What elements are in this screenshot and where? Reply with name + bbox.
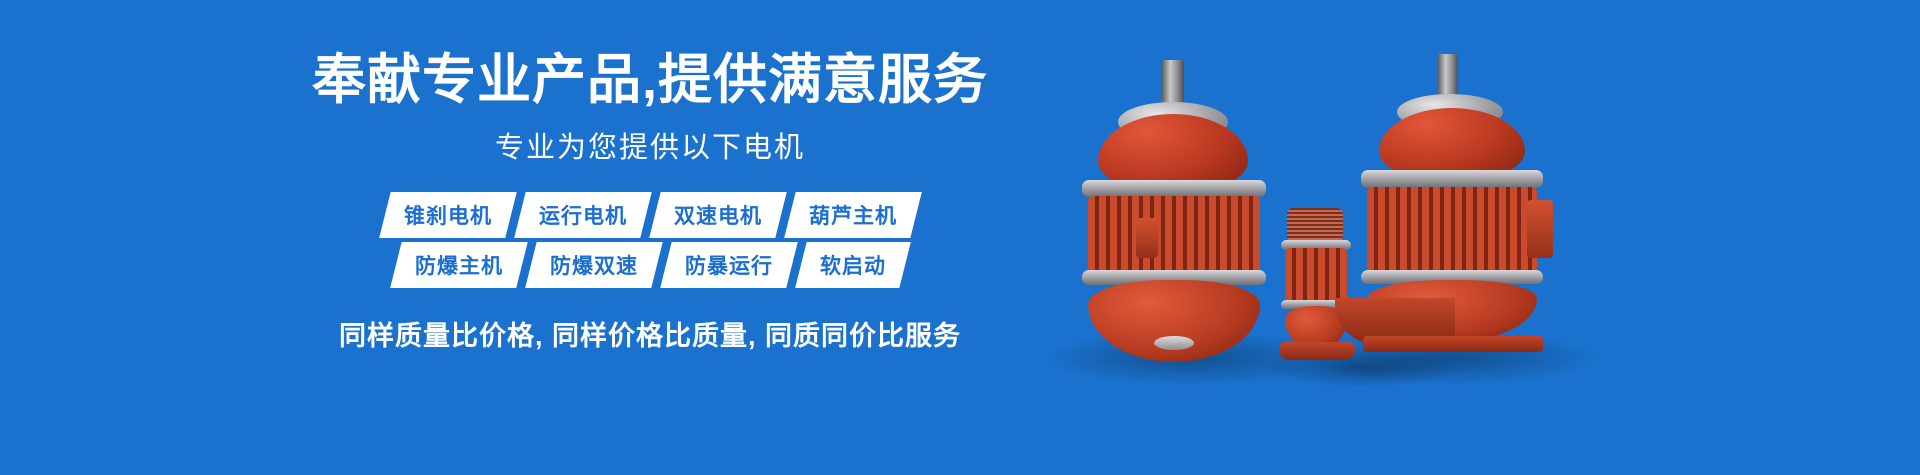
electric-motors-photo [1050, 30, 1610, 450]
banner-text-block: 奉献专业产品,提供满意服务 专业为您提供以下电机 锥刹电机 运行电机 双速电机 … [300, 50, 1000, 353]
banner-subtitle: 专业为您提供以下电机 [300, 124, 1000, 166]
motor-terminal-box [1527, 200, 1553, 258]
tag-chip-2-1[interactable]: 防爆主机 [390, 242, 527, 288]
tag-chip-label: 锥刹电机 [404, 200, 492, 230]
tag-chip-label: 防爆主机 [415, 250, 503, 280]
tag-row: 防爆主机 防爆双速 防暴运行 软启动 [390, 242, 910, 288]
tag-chip-label: 双速电机 [674, 200, 762, 230]
motor-cooling-fins [1367, 187, 1537, 273]
tag-chip-label: 葫芦主机 [809, 200, 897, 230]
tag-chip-2-2[interactable]: 防爆双速 [525, 242, 662, 288]
tag-chip-1-4[interactable]: 葫芦主机 [784, 192, 921, 238]
motor-cooling-fins [1088, 196, 1260, 272]
tag-rows: 锥刹电机 运行电机 双速电机 葫芦主机 防爆主机 [300, 192, 1000, 288]
motor-flange [1082, 180, 1266, 197]
tag-chip-label: 运行电机 [539, 200, 627, 230]
promo-banner: 奉献专业产品,提供满意服务 专业为您提供以下电机 锥刹电机 运行电机 双速电机 … [0, 0, 1920, 475]
motor-base-ring [1154, 336, 1194, 350]
motor-base-plate [1363, 336, 1543, 352]
tag-chip-label: 防暴运行 [685, 250, 773, 280]
banner-tagline: 同样质量比价格, 同样价格比质量, 同质同价比服务 [300, 314, 1000, 353]
tag-row: 锥刹电机 运行电机 双速电机 葫芦主机 [379, 192, 921, 238]
page-title: 奉献专业产品,提供满意服务 [300, 50, 1000, 110]
tag-chip-1-2[interactable]: 运行电机 [514, 192, 651, 238]
tag-chip-label: 软启动 [820, 250, 886, 280]
motor-terminal-box [1136, 218, 1158, 258]
motor-flange [1361, 170, 1543, 188]
motor-right [1305, 30, 1595, 375]
tag-chip-2-3[interactable]: 防暴运行 [660, 242, 797, 288]
tag-chip-2-4[interactable]: 软启动 [795, 242, 910, 288]
tag-chip-1-1[interactable]: 锥刹电机 [379, 192, 516, 238]
tag-chip-1-3[interactable]: 双速电机 [649, 192, 786, 238]
tag-chip-label: 防爆双速 [550, 250, 638, 280]
